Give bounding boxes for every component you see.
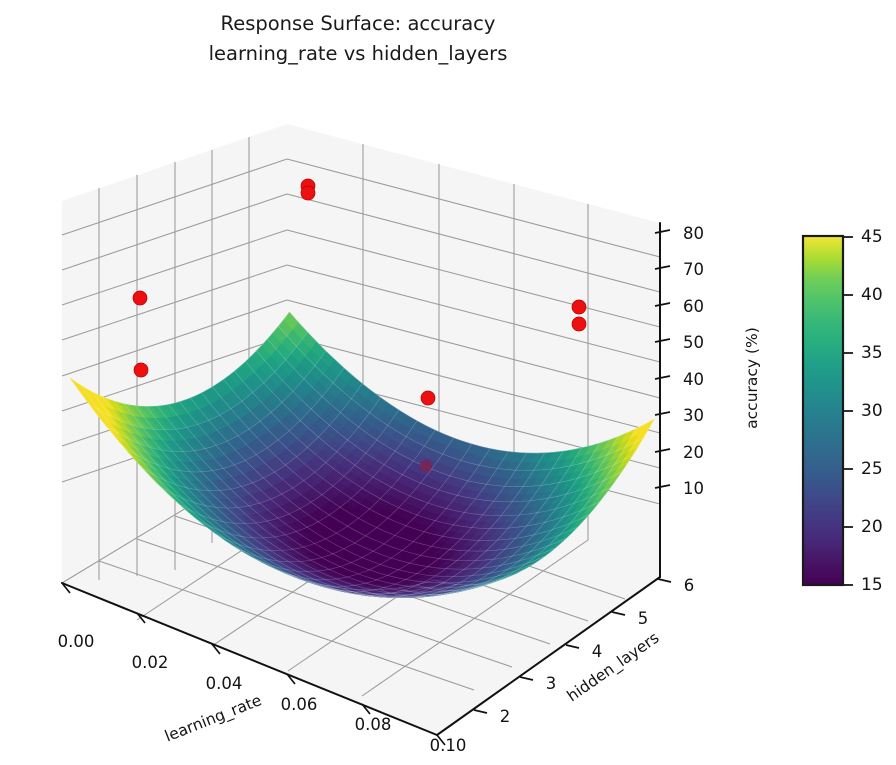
- response-surface-figure: Response Surface: accuracy learning_rate…: [0, 0, 896, 765]
- colorbar-ticklabel-0: 15: [861, 575, 883, 595]
- x-ticklabel-2: 0.04: [206, 674, 243, 693]
- y-ticklabel-4: 6: [684, 576, 695, 595]
- scatter-point-8[interactable]: [420, 460, 432, 472]
- colorbar-ticklabel-6: 45: [861, 227, 883, 247]
- z-axis-label: accuracy (%): [743, 327, 761, 429]
- z-ticklabel-2: 30: [683, 406, 704, 425]
- y-ticklabel-0: 2: [500, 707, 511, 726]
- scatter-point-5[interactable]: [572, 300, 586, 314]
- colorbar-ticklabel-1: 20: [861, 517, 883, 537]
- scatter-point-7[interactable]: [421, 391, 435, 405]
- colorbar-ticklabel-4: 35: [861, 343, 883, 363]
- z-ticklabel-5: 60: [683, 297, 704, 316]
- y-ticklabel-1: 3: [546, 674, 557, 693]
- y-ticklabel-2: 4: [592, 642, 603, 661]
- z-ticklabel-0: 10: [683, 479, 704, 498]
- colorbar-gradient: [803, 236, 843, 585]
- colorbar-ticklabel-5: 40: [861, 285, 883, 305]
- chart-title-line1: Response Surface: accuracy: [221, 12, 496, 35]
- x-ticklabel-5: 0.10: [430, 736, 467, 755]
- x-ticklabel-1: 0.02: [132, 653, 169, 672]
- z-ticklabel-1: 20: [683, 443, 704, 462]
- z-ticklabel-4: 50: [683, 333, 704, 352]
- y-ticklabel-3: 5: [638, 609, 649, 628]
- scatter-point-4[interactable]: [134, 363, 148, 377]
- scatter-point-3[interactable]: [133, 291, 147, 305]
- x-ticklabel-4: 0.08: [355, 715, 392, 734]
- z-ticklabel-7: 80: [683, 224, 704, 243]
- z-ticklabel-6: 70: [683, 260, 704, 279]
- colorbar-ticklabel-3: 30: [861, 401, 883, 421]
- x-ticklabel-0: 0.00: [58, 632, 95, 651]
- scatter-point-6[interactable]: [572, 317, 586, 331]
- scatter-point-2[interactable]: [301, 186, 315, 200]
- colorbar-ticklabel-2: 25: [861, 459, 883, 479]
- z-ticklabel-3: 40: [683, 370, 704, 389]
- x-ticklabel-3: 0.06: [281, 695, 318, 714]
- chart-title-line2: learning_rate vs hidden_layers: [209, 42, 508, 65]
